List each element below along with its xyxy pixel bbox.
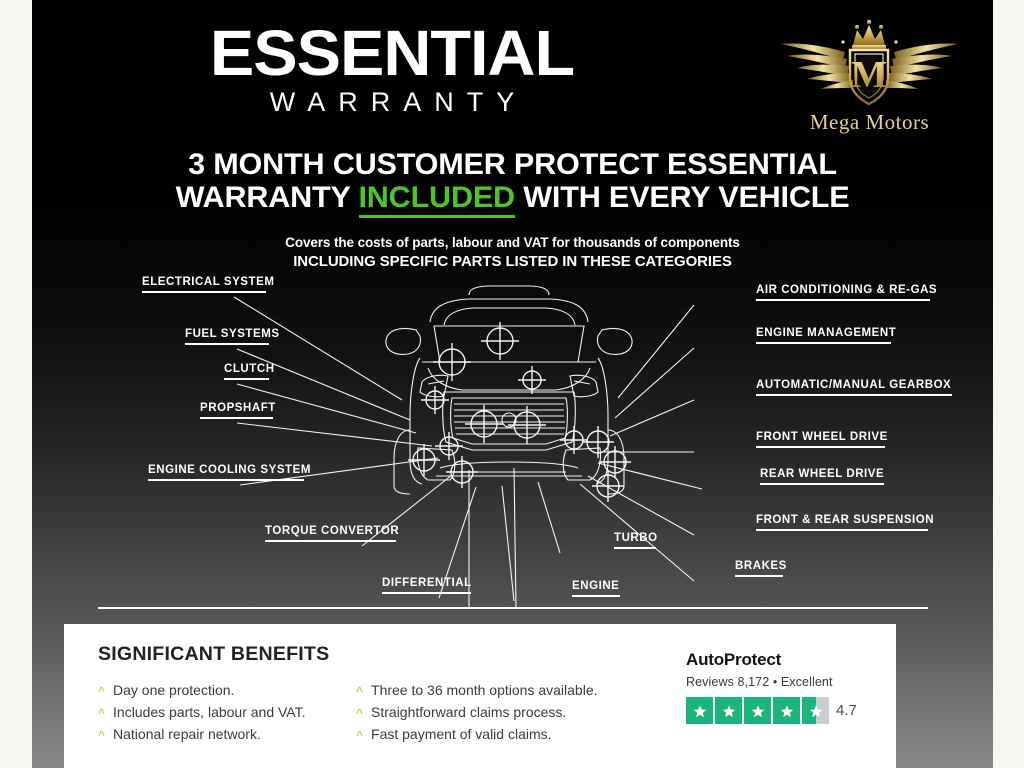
diagram-label-automatic-manual-gearbox: AUTOMATIC/MANUAL GEARBOX (756, 379, 952, 396)
benefits-card: SIGNIFICANT BENEFITS ^Day one protection… (64, 624, 896, 768)
diagram-label-text: FUEL SYSTEMS (185, 328, 280, 340)
subtitle-line-1: Covers the costs of parts, labour and VA… (32, 233, 993, 252)
diagram-label-rule (185, 343, 269, 345)
title-block: ESSENTIAL WARRANTY (32, 22, 752, 120)
warranty-poster: ESSENTIAL WARRANTY (0, 0, 1024, 768)
benefit-item: ^Fast payment of valid claims. (356, 724, 598, 745)
benefit-item: ^Day one protection. (98, 680, 306, 701)
chevron-up-icon: ^ (356, 681, 363, 701)
benefit-item-text: Straightforward claims process. (371, 702, 566, 723)
diagram-label-text: BRAKES (735, 560, 787, 572)
star-icon (715, 697, 742, 724)
benefits-title: SIGNIFICANT BENEFITS (98, 644, 329, 666)
diagram-label-electrical-system: ELECTRICAL SYSTEM (142, 276, 274, 293)
diagram-label-text: FRONT & REAR SUSPENSION (756, 514, 934, 526)
diagram-label-text: ELECTRICAL SYSTEM (142, 276, 274, 288)
winged-crest-icon: M (767, 12, 972, 112)
diagram-label-front-rear-suspension: FRONT & REAR SUSPENSION (756, 514, 934, 531)
diagram-label-rule (572, 595, 620, 597)
diagram-label-text: TORQUE CONVERTOR (265, 525, 399, 537)
benefit-item-text: Fast payment of valid claims. (371, 724, 552, 745)
diagram-label-fuel-systems: FUEL SYSTEMS (185, 328, 280, 345)
benefit-item: ^Three to 36 month options available. (356, 680, 598, 701)
diagram-label-front-wheel-drive: FRONT WHEEL DRIVE (756, 431, 888, 448)
benefit-item-text: National repair network. (113, 724, 261, 745)
diagram-label-text: ENGINE COOLING SYSTEM (148, 464, 311, 476)
diagram-label-engine-management: ENGINE MANAGEMENT (756, 327, 896, 344)
diagram-label-text: PROPSHAFT (200, 402, 276, 414)
diagram-label-rule (614, 547, 656, 549)
diagram-label-text: ENGINE (572, 580, 619, 592)
diagram-label-differential: DIFFERENTIAL (382, 577, 472, 594)
chevron-up-icon: ^ (98, 725, 105, 745)
diagram-label-text: FRONT WHEEL DRIVE (756, 431, 888, 443)
diagram-label-text: AUTOMATIC/MANUAL GEARBOX (756, 379, 951, 391)
headline-highlight-included: INCLUDED (358, 181, 514, 218)
poster-header: ESSENTIAL WARRANTY (32, 0, 993, 150)
benefit-item: ^National repair network. (98, 724, 306, 745)
star-icon (773, 697, 800, 724)
title-essential: ESSENTIAL (32, 22, 766, 84)
diagram-label-engine: ENGINE (572, 580, 620, 597)
diagram-label-rule (756, 529, 928, 531)
headline-line-2-after: WITH EVERY VEHICLE (515, 181, 849, 214)
logo-monogram-m: M (851, 54, 887, 96)
diagram-label-rule (756, 342, 891, 344)
benefit-item-text: Includes parts, labour and VAT. (113, 702, 305, 723)
trustpilot-widget[interactable]: AutoProtect Reviews 8,172 • Excellent 4.… (686, 650, 876, 724)
chevron-up-icon: ^ (356, 725, 363, 745)
star-icon (802, 697, 829, 724)
headline-line-2-before: WARRANTY (176, 181, 359, 214)
diagram-label-text: CLUTCH (224, 363, 275, 375)
diagram-label-turbo: TURBO (614, 532, 658, 549)
chevron-up-icon: ^ (98, 681, 105, 701)
diagram-label-engine-cooling-system: ENGINE COOLING SYSTEM (148, 464, 311, 481)
benefit-item: ^Includes parts, labour and VAT. (98, 702, 306, 723)
subtitle-line-2: INCLUDING SPECIFIC PARTS LISTED IN THESE… (32, 252, 993, 271)
benefit-item-text: Day one protection. (113, 680, 234, 701)
rating-row: 4.7 (686, 697, 876, 724)
diagram-label-rule (756, 446, 885, 448)
autoprotect-brand: AutoProtect (686, 650, 876, 670)
diagram-label-brakes: BRAKES (735, 560, 787, 577)
star-icon (686, 697, 713, 724)
chevron-up-icon: ^ (98, 703, 105, 723)
diagram-label-rule (148, 479, 304, 481)
diagram-label-rule (760, 483, 884, 485)
star-rating (686, 697, 829, 724)
diagram-label-rear-wheel-drive: REAR WHEEL DRIVE (760, 468, 884, 485)
diagram-label-rule (200, 417, 273, 419)
diagram-label-rule (756, 394, 952, 396)
diagram-label-rule (756, 299, 930, 301)
chevron-up-icon: ^ (356, 703, 363, 723)
headline-line-2: WARRANTY INCLUDED WITH EVERY VEHICLE (32, 181, 993, 214)
diagram-label-text: REAR WHEEL DRIVE (760, 468, 884, 480)
diagram-label-text: ENGINE MANAGEMENT (756, 327, 896, 339)
diagram-label-text: DIFFERENTIAL (382, 577, 472, 589)
diagram-label-air-conditioning-re-gas: AIR CONDITIONING & RE-GAS (756, 284, 937, 301)
diagram-label-rule (735, 575, 783, 577)
logo-wordmark: Mega Motors (767, 110, 972, 135)
star-icon (744, 697, 771, 724)
reviews-meta: Reviews 8,172 • Excellent (686, 675, 876, 689)
benefit-item: ^Straightforward claims process. (356, 702, 598, 723)
diagram-label-rule (142, 291, 266, 293)
headline-block: 3 MONTH CUSTOMER PROTECT ESSENTIAL WARRA… (32, 148, 993, 271)
rating-score: 4.7 (836, 702, 857, 719)
diagram-label-rule (265, 540, 396, 542)
benefit-item-text: Three to 36 month options available. (371, 680, 597, 701)
diagram-label-propshaft: PROPSHAFT (200, 402, 276, 419)
diagram-label-torque-convertor: TORQUE CONVERTOR (265, 525, 399, 542)
benefits-column-1: ^Day one protection.^Includes parts, lab… (98, 680, 306, 746)
benefits-column-2: ^Three to 36 month options available.^St… (356, 680, 598, 746)
diagram-label-rule (224, 378, 269, 380)
title-warranty: WARRANTY (32, 84, 752, 120)
diagram-label-text: AIR CONDITIONING & RE-GAS (756, 284, 937, 296)
mega-motors-logo: M Mega Motors (767, 12, 972, 140)
diagram-label-rule (382, 592, 471, 594)
diagram-label-clutch: CLUTCH (224, 363, 275, 380)
diagram-label-text: TURBO (614, 532, 658, 544)
headline-line-1: 3 MONTH CUSTOMER PROTECT ESSENTIAL (32, 148, 993, 181)
